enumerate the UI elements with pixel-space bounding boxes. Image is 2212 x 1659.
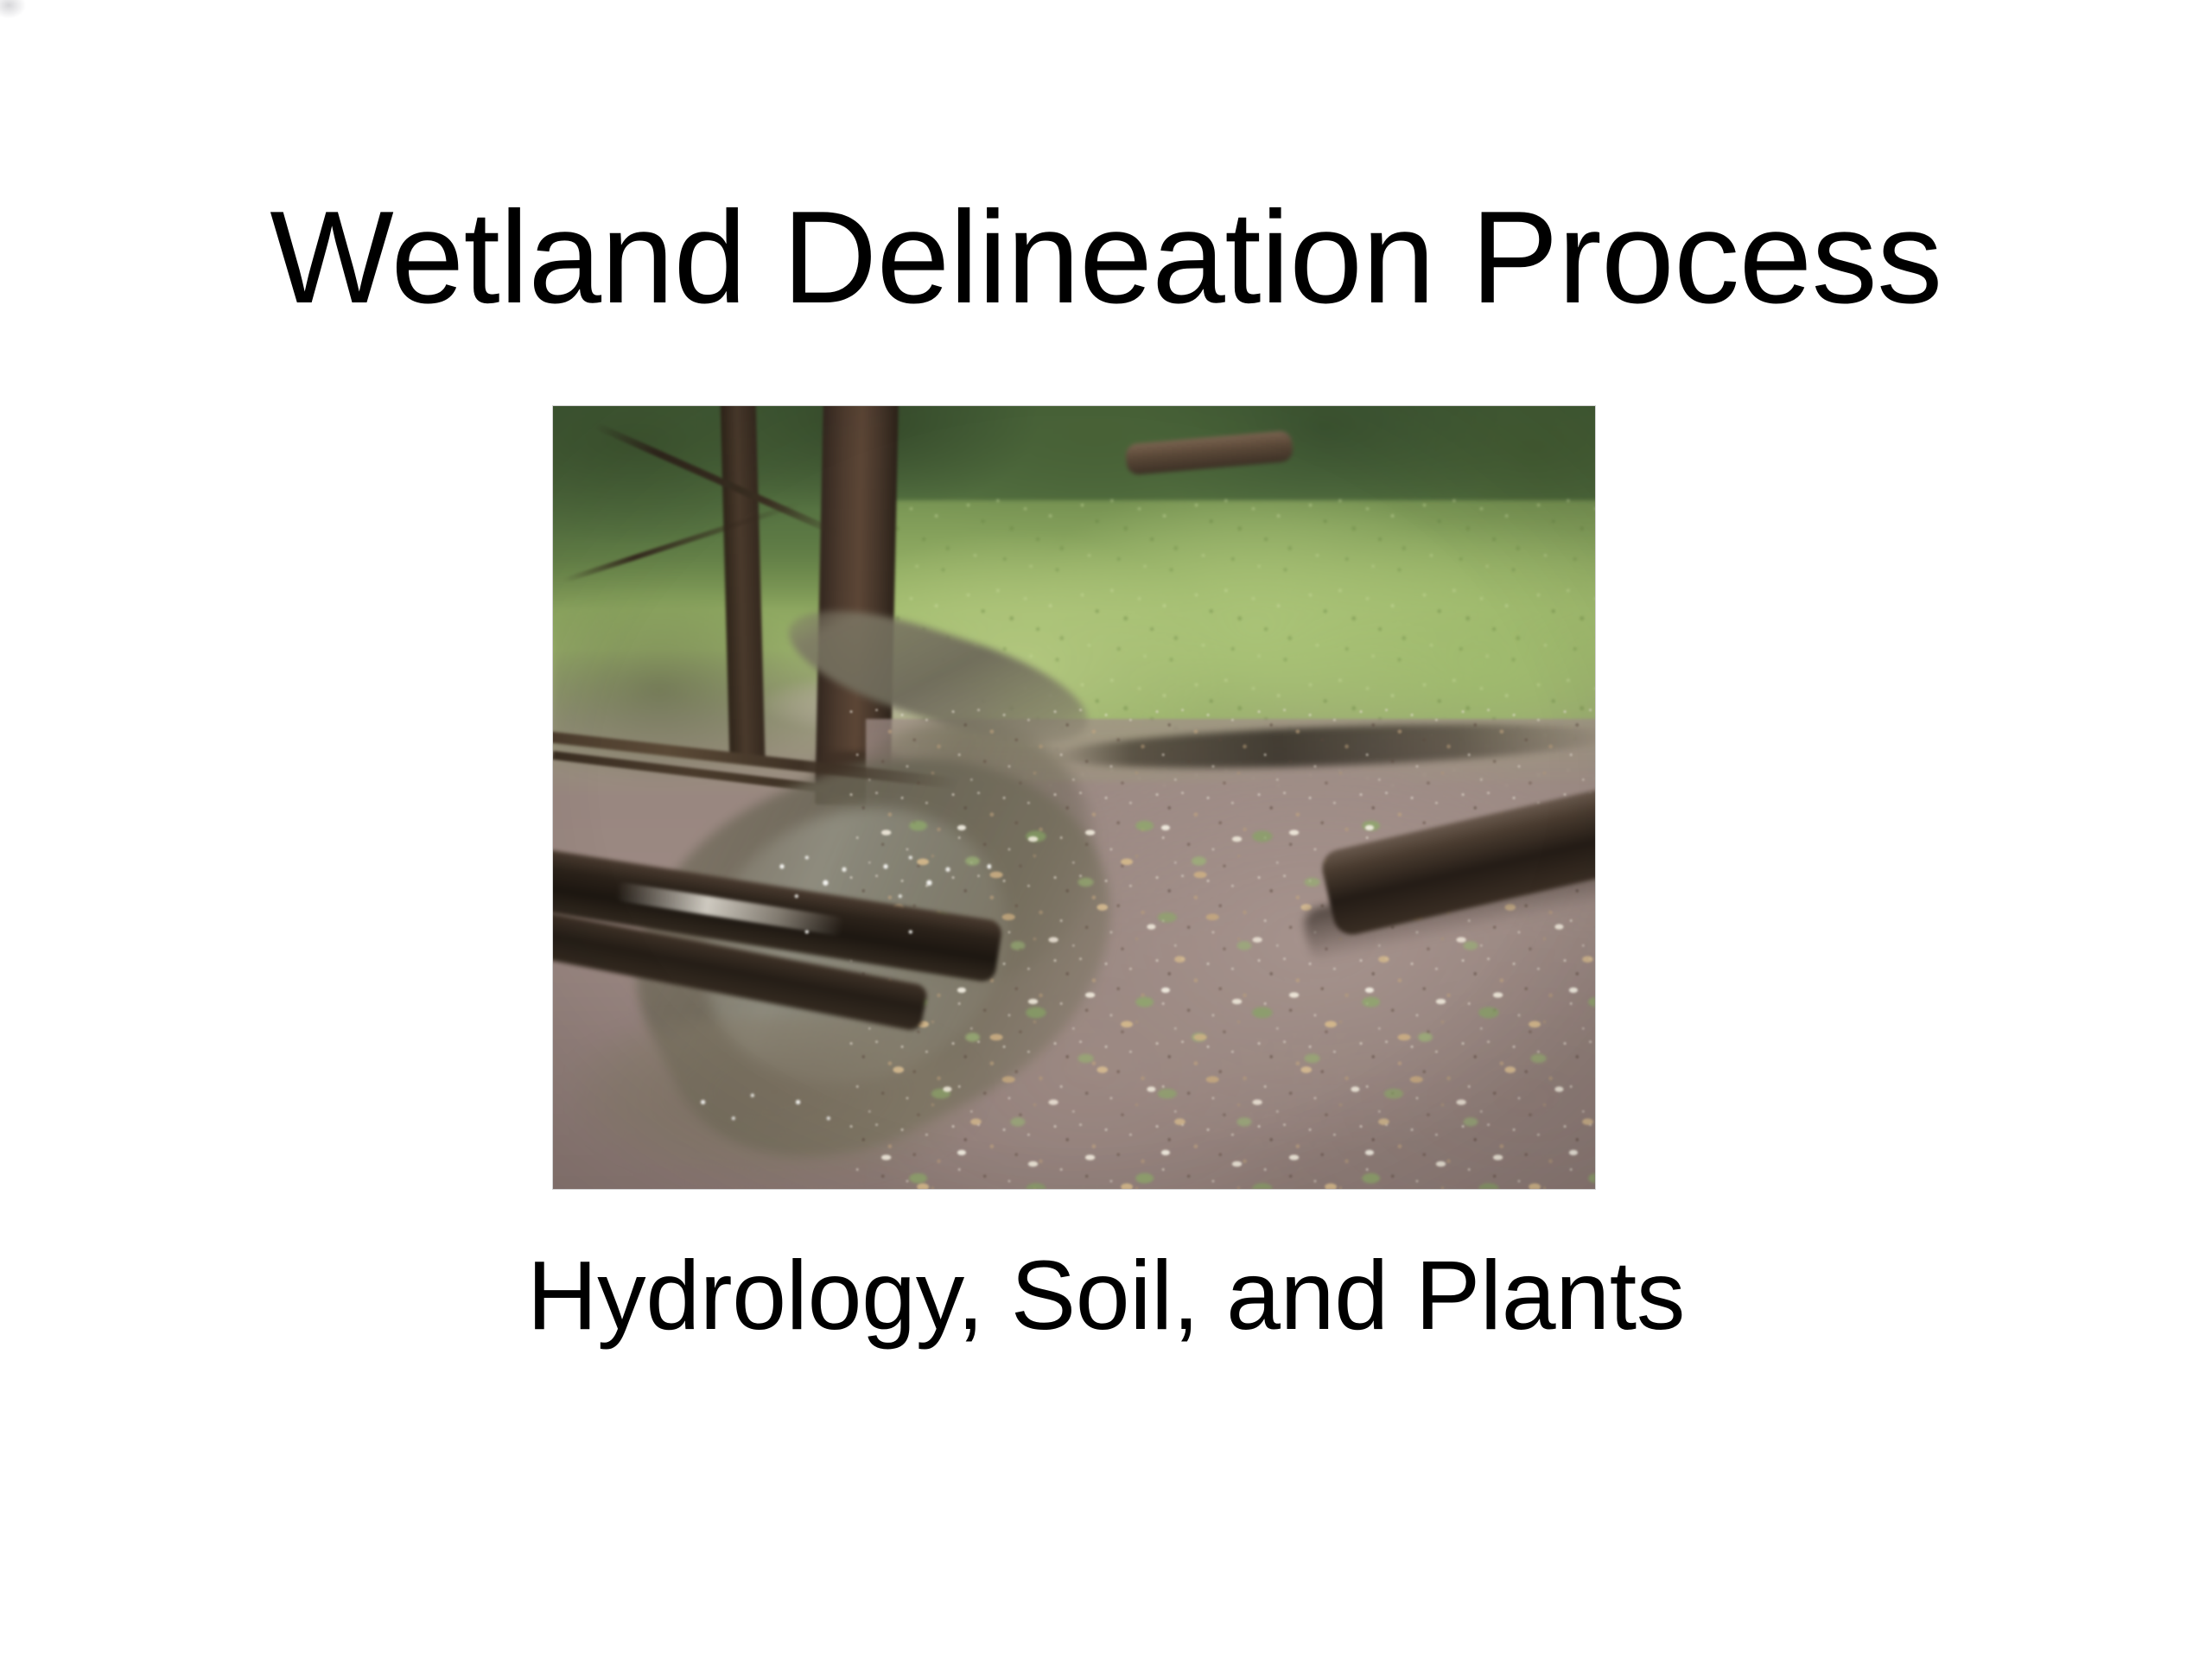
photo-left-shadow [553,602,907,822]
photo-blur-overlay [553,406,1595,1189]
scan-artifact [0,0,38,35]
photo-log-right-shadow [1301,842,1595,964]
photo-downed-branch [553,731,959,789]
photo-channel-bank-shadow [781,676,1137,1029]
photo-water-channel-main [582,679,1170,1189]
photo-fallen-leaves [866,813,1595,1189]
photo-water-sheen [655,755,1056,1137]
photo-foliage-speckle [845,493,1595,790]
presentation-slide: Wetland Delineation Process [0,0,2212,1659]
photo-fallen-log-right [1319,774,1595,938]
photo-log-top-right [1125,430,1294,476]
photo-debris-line [1052,717,1595,776]
photo-ground-plants [887,798,1595,1189]
photo-bare-soil [866,719,1595,1189]
photo-water-channel-upper [777,587,1101,766]
photo-vignette [553,406,1595,1189]
photo-white-flecks [761,844,990,938]
photo-soil-grit [845,703,1595,1189]
photo-branch-middle [563,501,802,583]
photo-log-highlight [615,881,844,936]
photo-tree-trunk-main [815,406,899,806]
photo-branch-upper [594,422,844,538]
photo-gravel-bar [761,672,1011,734]
page-title: Wetland Delineation Process [0,188,2212,327]
photo-tree-trunk-base [798,751,923,822]
page-subtitle: Hydrology, Soil, and Plants [0,1242,2212,1349]
photo-white-flecks-lower [678,1079,845,1158]
photo-green-vegetation [866,500,1595,782]
wetland-stream-photo [553,406,1595,1189]
photo-forest-canopy [553,406,1595,610]
photo-branch-lower [553,751,926,805]
photo-ground-base [553,406,1595,1189]
photo-fallen-log-left-lower [553,907,929,1033]
photo-fallen-log-left [553,847,1003,983]
photo-water-pool [574,1017,990,1189]
photo-tree-trunk-secondary [721,406,766,759]
